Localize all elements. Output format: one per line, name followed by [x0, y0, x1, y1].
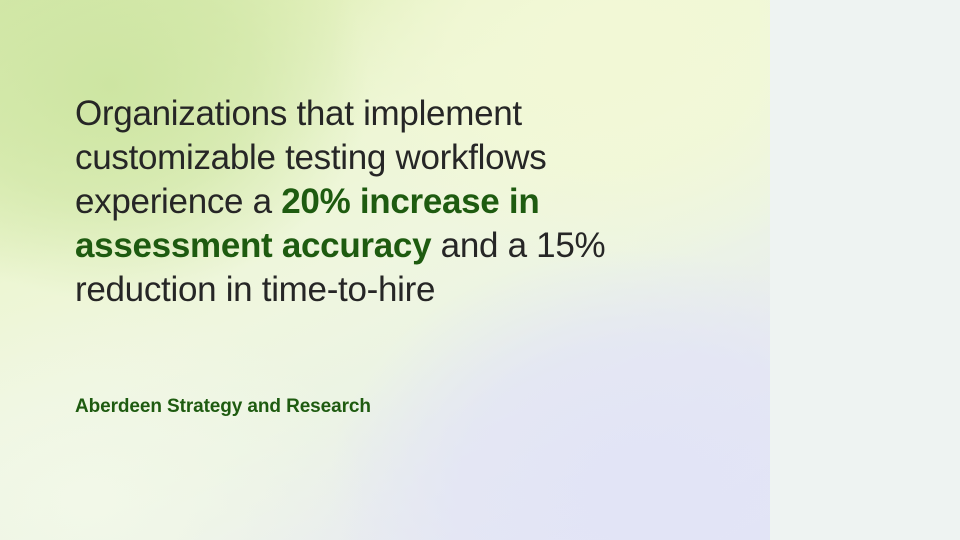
- headline-statement: Organizations that implement customizabl…: [75, 92, 675, 312]
- right-sidebar-panel: [770, 0, 960, 540]
- slide-canvas: Organizations that implement customizabl…: [0, 0, 960, 540]
- source-attribution: Aberdeen Strategy and Research: [75, 396, 371, 418]
- decorative-pale-bloom: [0, 300, 370, 540]
- left-gradient-panel: Organizations that implement customizabl…: [0, 0, 770, 540]
